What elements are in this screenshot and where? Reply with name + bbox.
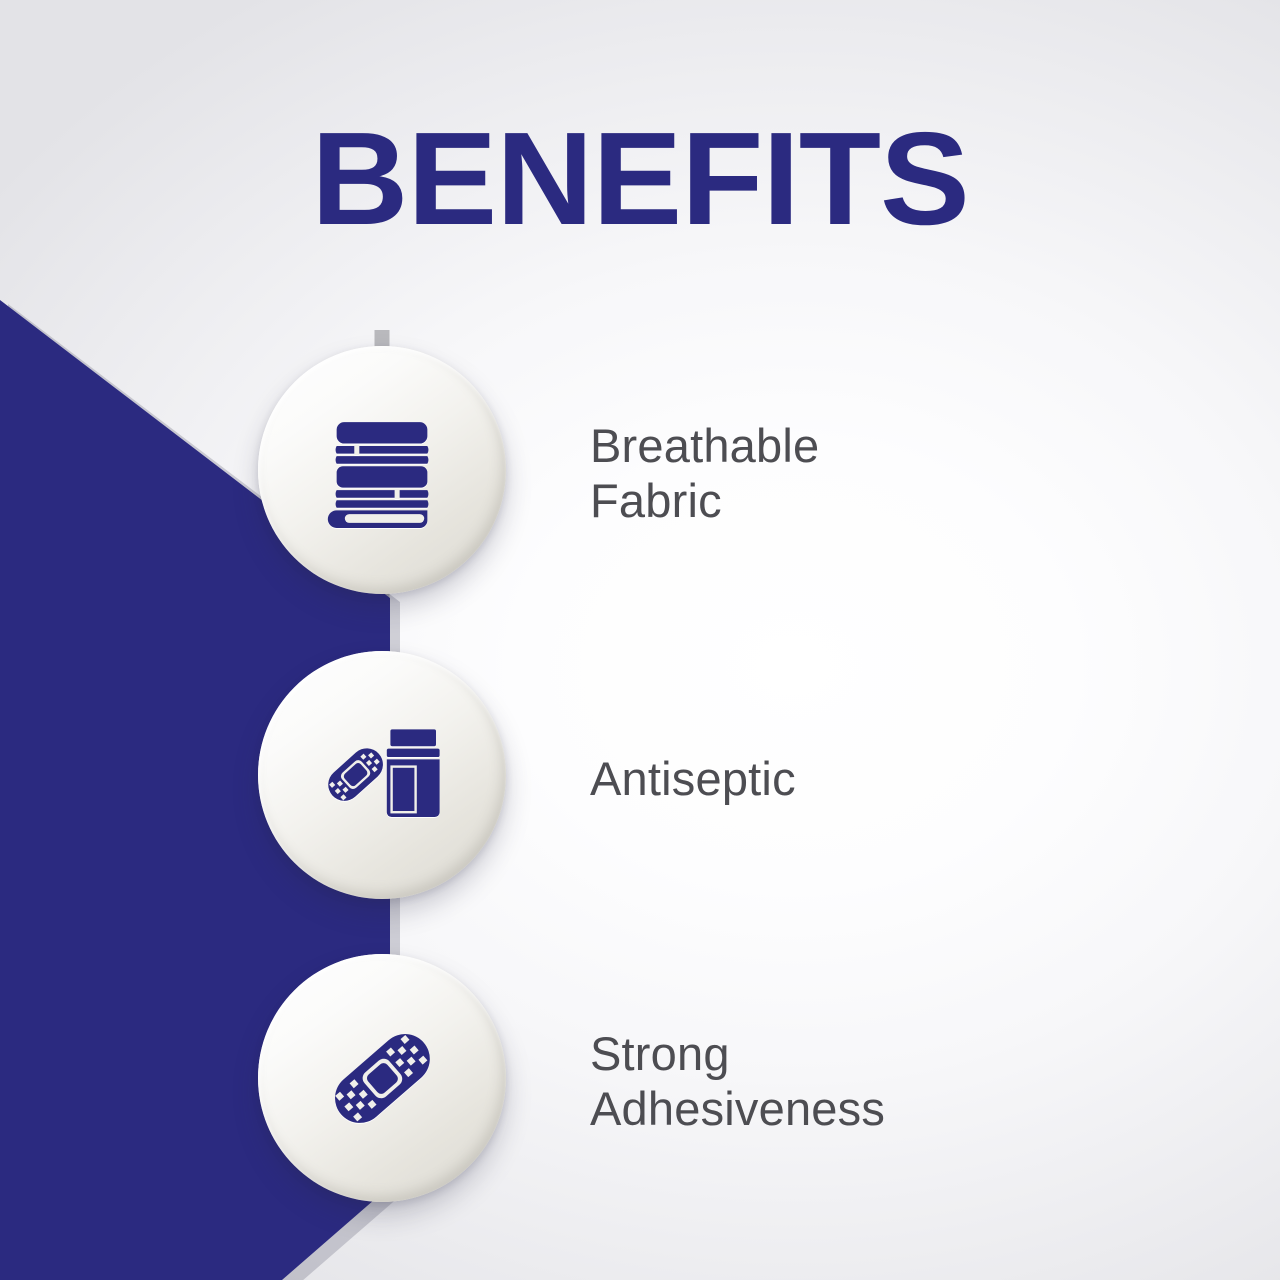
benefit-label-3-line1: Strong xyxy=(590,1027,730,1080)
benefit-icon-circle-2[interactable] xyxy=(258,651,506,899)
adhesive-bandage-icon xyxy=(312,1008,452,1148)
benefit-label-1: Breathable Fabric xyxy=(590,418,1150,529)
benefit-label-2-line1: Antiseptic xyxy=(590,752,796,805)
benefit-label-3: Strong Adhesiveness xyxy=(590,1026,1150,1137)
benefits-infographic: BENEFITS xyxy=(0,0,1280,1280)
folded-fabric-stack-icon xyxy=(319,407,445,533)
bandage-and-antiseptic-bottle-icon xyxy=(316,709,448,841)
page-title: BENEFITS xyxy=(0,112,1280,247)
benefit-icon-circle-3[interactable] xyxy=(258,954,506,1202)
benefit-label-2: Antiseptic xyxy=(590,751,1150,806)
benefit-icon-circle-1[interactable] xyxy=(258,346,506,594)
benefit-label-1-line1: Breathable xyxy=(590,419,819,472)
benefit-label-1-line2: Fabric xyxy=(590,473,1150,528)
benefit-label-3-line2: Adhesiveness xyxy=(590,1081,1150,1136)
